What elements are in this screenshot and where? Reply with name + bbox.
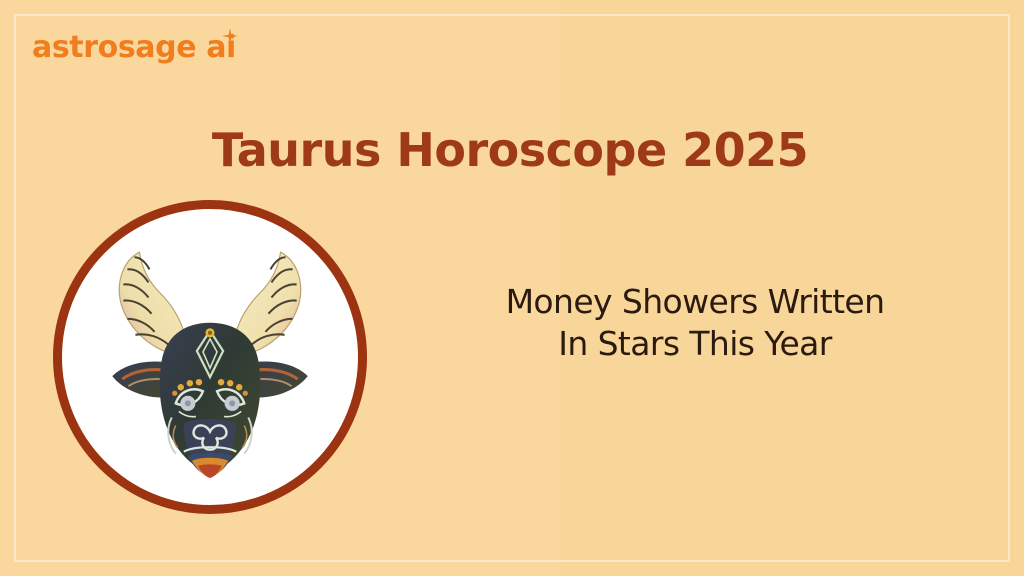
sparkle-star-icon: [222, 28, 238, 44]
taurus-medallion: [53, 200, 367, 514]
astrosage-logo[interactable]: astrosage ai: [32, 33, 236, 63]
subtitle-line-2: In Stars This Year: [455, 323, 935, 365]
subtitle: Money Showers Written In Stars This Year: [455, 281, 935, 365]
taurus-bull-head-icon: [79, 226, 341, 488]
logo-wordmark: astrosage ai: [32, 33, 236, 63]
subtitle-line-1: Money Showers Written: [455, 281, 935, 323]
page-title: Taurus Horoscope 2025: [200, 123, 820, 177]
taurus-horoscope-banner: astrosage ai Taurus Horoscope 2025 Money…: [0, 0, 1024, 576]
